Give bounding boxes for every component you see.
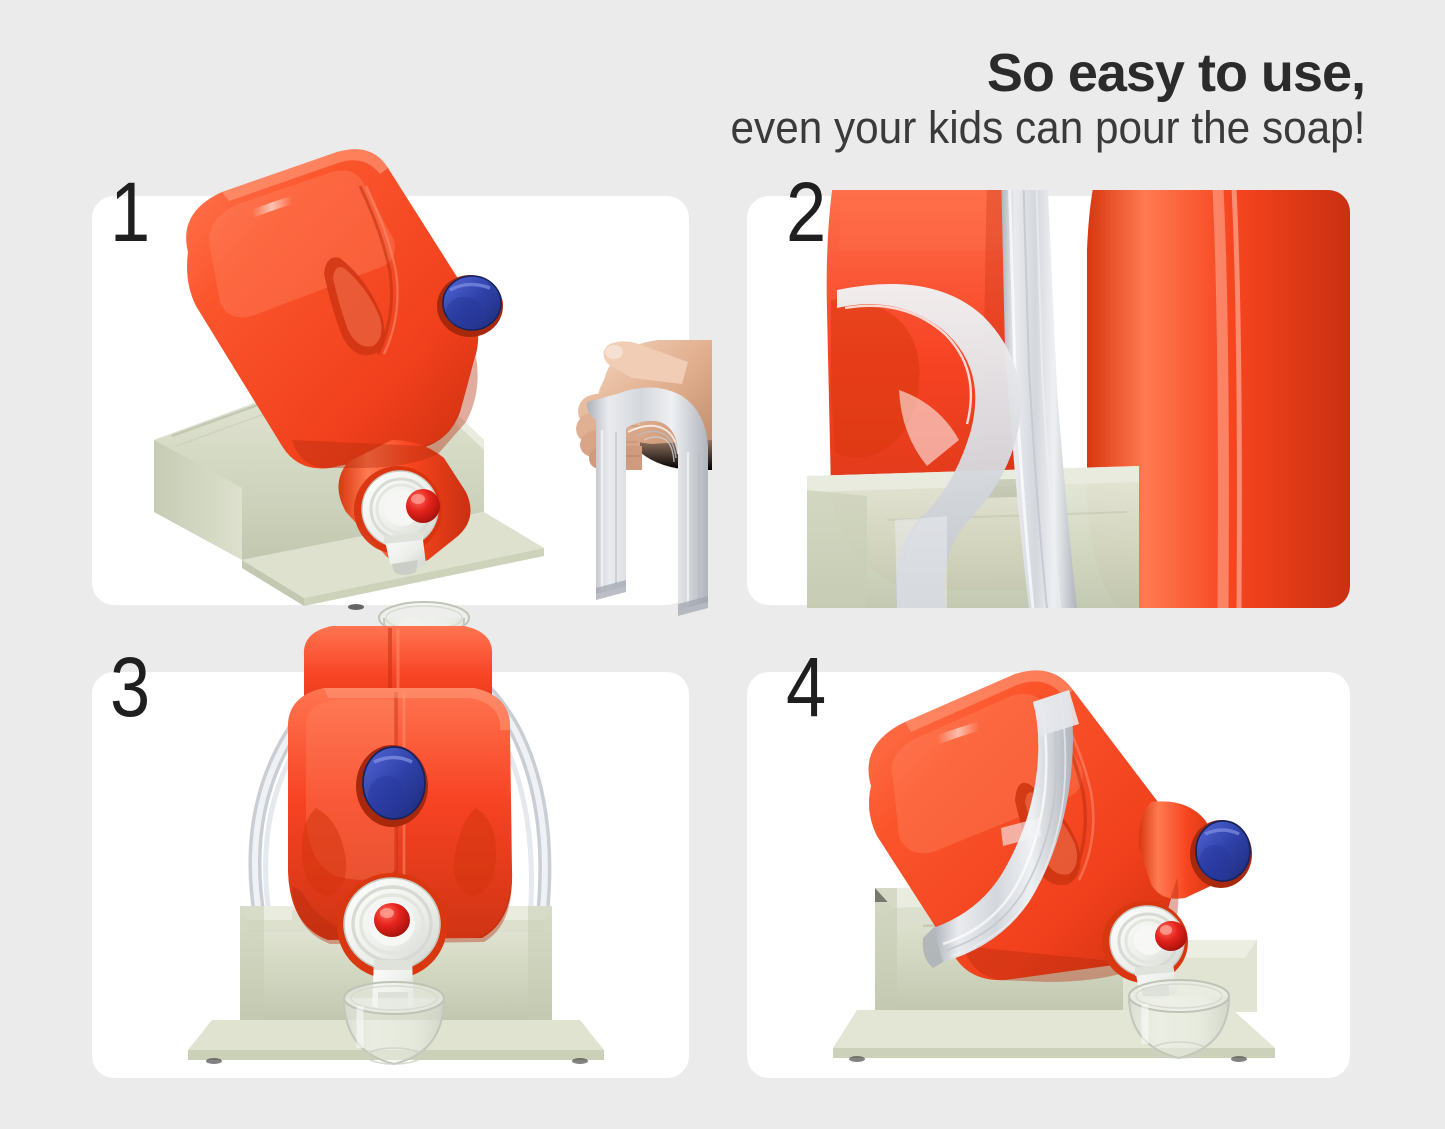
step-number-3: 3: [110, 645, 150, 729]
step-number-2: 2: [786, 170, 826, 254]
step-card-4: [747, 672, 1350, 1078]
headline-line-1: So easy to use,: [690, 44, 1365, 102]
step-card-1: [92, 196, 689, 605]
step-number-4: 4: [786, 645, 826, 729]
headline-block: So easy to use, even your kids can pour …: [690, 44, 1365, 152]
step-card-3: [92, 672, 689, 1078]
instruction-graphic: So easy to use, even your kids can pour …: [0, 0, 1445, 1129]
step-number-1: 1: [110, 170, 150, 254]
step-card-2: [747, 196, 1350, 605]
headline-line-2: even your kids can pour the soap!: [730, 104, 1365, 152]
measuring-cup: [379, 602, 469, 676]
